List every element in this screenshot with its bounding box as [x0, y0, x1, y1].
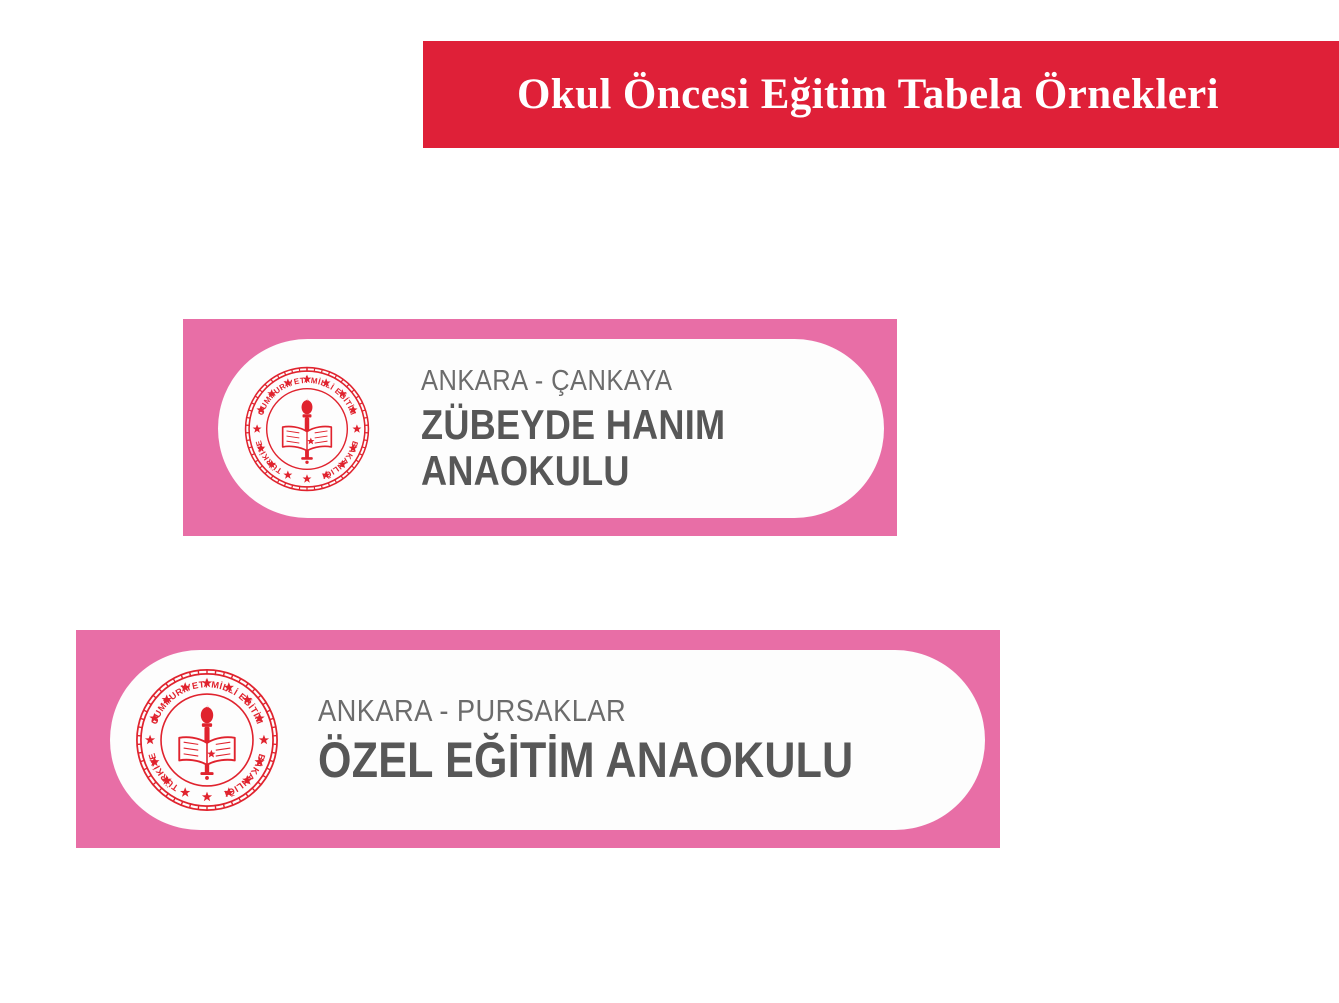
sign-location: ANKARA - ÇANKAYA [421, 364, 732, 398]
sign-plate: CUMHURİYETİ MİLLİ EĞİTİM BAKANLIĞI TÜRKİ… [218, 339, 884, 518]
title-banner: Okul Öncesi Eğitim Tabela Örnekleri [423, 41, 1339, 148]
sign-name-line-1: ZÜBEYDE HANIM [421, 402, 725, 448]
sign-text-block: ANKARA - ÇANKAYA ZÜBEYDE HANIM ANAOKULU [421, 364, 775, 494]
emblem-ring-text-lower-left: TÜRKİYE [254, 438, 284, 475]
sign-location: ANKARA - PURSAKLAR [318, 693, 866, 729]
sign-name-line-2: ANAOKULU [421, 448, 725, 494]
meb-emblem-icon: CUMHURİYETİ MİLLİ EĞİTİM BAKANLIĞI TÜRKİ… [134, 667, 280, 813]
sign-name-line-1: ÖZEL EĞİTİM ANAOKULU [318, 732, 853, 788]
sign-card-zubeyde-hanim: CUMHURİYETİ MİLLİ EĞİTİM BAKANLIĞI TÜRKİ… [183, 319, 897, 536]
emblem-book-icon [179, 737, 234, 775]
emblem-book-icon [283, 426, 332, 459]
emblem-torch-icon [302, 398, 313, 431]
sign-card-ozel-egitim: CUMHURİYETİ MİLLİ EĞİTİM BAKANLIĞI TÜRKİ… [76, 630, 1000, 848]
meb-emblem-icon: CUMHURİYETİ MİLLİ EĞİTİM BAKANLIĞI TÜRKİ… [243, 365, 371, 493]
emblem-torch-icon [201, 705, 213, 743]
sign-text-block: ANKARA - PURSAKLAR ÖZEL EĞİTİM ANAOKULU [318, 693, 941, 788]
page-title: Okul Öncesi Eğitim Tabela Örnekleri [517, 73, 1219, 116]
sign-plate: CUMHURİYETİ MİLLİ EĞİTİM BAKANLIĞI TÜRKİ… [110, 650, 985, 830]
